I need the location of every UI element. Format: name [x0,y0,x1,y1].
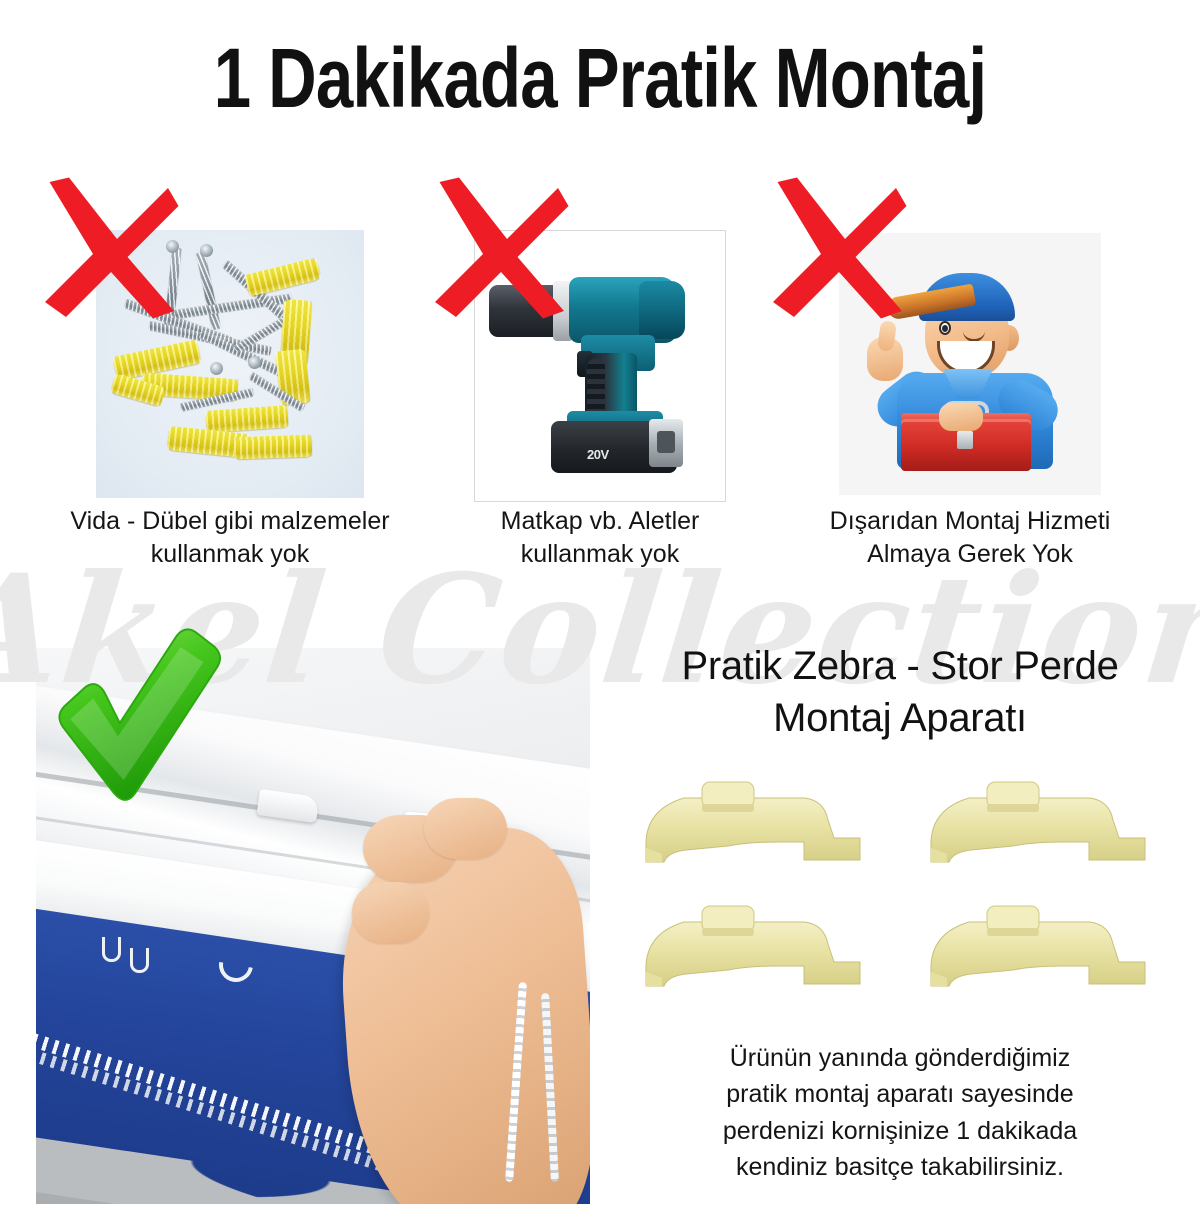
drill-battery-label: 20V [587,447,609,462]
mounting-clips-grid [628,776,1172,1002]
caption-drill: Matkap vb. Aletler kullanmak yok [440,505,760,571]
drill-photo-wrap: 20V [440,175,760,475]
worker-photo-wrap [760,175,1180,475]
caption-worker: Dışarıdan Montaj Hizmeti Almaya Gerek Yo… [760,505,1180,571]
handyman-cartoon-photo [839,233,1101,495]
page-title: 1 Dakikada Pratik Montaj [120,36,1080,120]
description-line-2: pratik montaj aparatı sayesinde [618,1076,1182,1112]
cordless-drill-photo: 20V [474,230,726,502]
no-items-row: Vida - Dübel gibi malzemeler kullanmak y… [0,175,1200,595]
showcase-heading-line-2: Montaj Aparatı [600,692,1200,744]
no-item-screws-dowels: Vida - Dübel gibi malzemeler kullanmak y… [20,175,440,475]
mounting-clip-item [913,900,1172,1002]
caption-line-2: kullanmak yok [20,538,440,571]
caption-line-1: Matkap vb. Aletler [440,505,760,538]
caption-line-1: Dışarıdan Montaj Hizmeti [760,505,1180,538]
caption-line-2: kullanmak yok [440,538,760,571]
showcase-column: Pratik Zebra - Stor Perde Montaj Aparatı [600,640,1200,1224]
mounting-clip-item [628,776,887,878]
showcase-heading: Pratik Zebra - Stor Perde Montaj Aparatı [600,640,1200,744]
screws-photo-wrap [20,175,440,475]
caption-line-1: Vida - Dübel gibi malzemeler [20,505,440,538]
caption-screws: Vida - Dübel gibi malzemeler kullanmak y… [20,505,440,571]
promo-image: Akel Collection 1 Dakikada Pratik Montaj [0,0,1200,1224]
mounting-clip-icon [628,900,868,1000]
caption-line-2: Almaya Gerek Yok [760,538,1180,571]
check-mark-icon [40,628,230,818]
showcase-heading-line-1: Pratik Zebra - Stor Perde [600,640,1200,692]
mounting-clip-item [628,900,887,1002]
screws-and-wall-plugs-photo [96,230,364,498]
no-item-installer-service: Dışarıdan Montaj Hizmeti Almaya Gerek Yo… [760,175,1180,475]
mounting-clip-icon [913,776,1153,876]
description-line-3: perdenizi kornişinize 1 dakikada [618,1113,1182,1149]
description-line-4: kendiniz basitçe takabilirsiniz. [618,1149,1182,1185]
showcase-description: Ürünün yanında gönderdiğimiz pratik mont… [618,1040,1182,1185]
mounting-clip-item [913,776,1172,878]
description-line-1: Ürünün yanında gönderdiğimiz [618,1040,1182,1076]
mounting-clip-icon [628,776,868,876]
no-item-power-tools: 20V Matkap vb. Aletler kullanmak yok [440,175,760,475]
mounting-clip-icon [913,900,1153,1000]
